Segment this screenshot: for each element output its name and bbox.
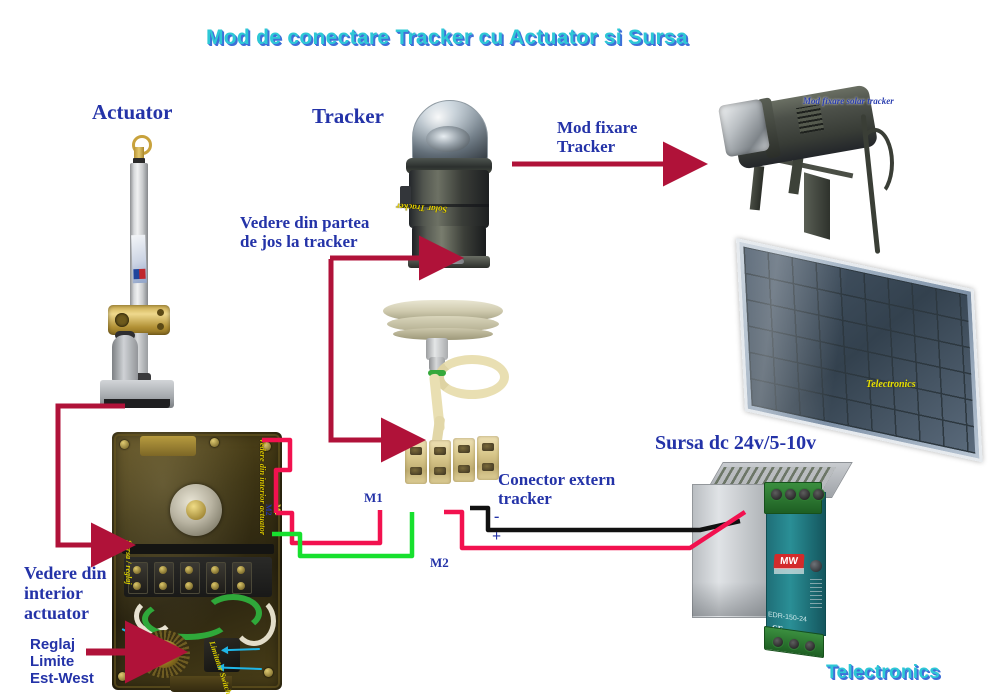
label-vedere-din-partea-de-jos: Vedere din partea de jos la tracker: [240, 213, 369, 251]
housing-screw-top-right: [210, 438, 219, 447]
psu-terminal-3: [798, 488, 811, 501]
terminal-screw-1: [133, 566, 141, 574]
watermark-sursa-reglaj: Sursa / reglaj: [124, 540, 133, 584]
brand-logo: Telectronics: [826, 662, 940, 683]
tracker-mount-plate: [804, 172, 830, 239]
wire-motor-2: [272, 512, 412, 556]
psu-brand-logo: MW: [773, 554, 804, 569]
psu-input-terminal-1: [772, 636, 784, 648]
housing-screw-top-left: [120, 440, 129, 449]
actuator-photo: [92, 135, 178, 410]
mounted-tracker-fins: [796, 104, 824, 134]
label-actuator: Actuator: [92, 101, 172, 125]
tracker-mount-post: [750, 166, 765, 211]
actuator-sticker: [131, 235, 147, 283]
mounted-tracker-lens: [718, 99, 770, 158]
actuator-limit-disc-hub: [186, 500, 206, 520]
interior-label-m2: M2: [263, 504, 272, 516]
tracker-cable-loop: [435, 355, 509, 399]
label-terminal-minus: -: [494, 508, 499, 526]
psu-input-terminal-2: [788, 638, 800, 650]
terminal-screw-7: [159, 582, 167, 590]
tracker-sensor-core: [426, 126, 470, 152]
solar-panel: [736, 238, 983, 462]
terminal-screw-2: [159, 566, 167, 574]
tracker-clamp-bolt: [434, 259, 464, 264]
terminal-screw-8: [185, 582, 193, 590]
terminal-screw-6: [133, 582, 141, 590]
actuator-terminal-bar: [122, 544, 274, 554]
interior-label-m1: M1: [272, 504, 281, 516]
psu-print-block: [810, 578, 822, 608]
psu-terminal-1: [770, 488, 783, 501]
tracker-body: [409, 170, 489, 228]
tracker-bottom-view-photo: [383, 300, 533, 485]
watermark-vedere-interior: Vedere din interior actuator: [258, 438, 268, 535]
psu-input-terminal-3: [804, 640, 816, 652]
wire-motor-1: [276, 510, 380, 543]
psu-left-shading: [692, 582, 766, 616]
terminal-screw-4: [211, 566, 219, 574]
housing-screw-bottom-left: [118, 672, 127, 681]
label-tracker: Tracker: [312, 105, 384, 129]
watermark-panel-brand: Telectronics: [866, 379, 916, 390]
diagram-canvas: Mod de conectare Tracker cu Actuator si …: [0, 0, 990, 700]
terminal-screw-3: [185, 566, 193, 574]
terminal-screw-5: [237, 566, 245, 574]
actuator-interior-photo: [112, 432, 282, 690]
housing-screw-bottom-right: [264, 668, 273, 677]
label-terminal-plus: +: [492, 528, 501, 546]
psu-brand-underline: [774, 568, 804, 574]
actuator-base: [100, 380, 174, 408]
power-supply-photo: MW EDR-150-24 CE: [688, 462, 874, 652]
label-reglaj-limite-est-west: Reglaj Limite Est-West: [30, 637, 94, 687]
actuator-motor: [112, 335, 138, 383]
label-m2: M2: [430, 556, 449, 571]
actuator-top-plate: [140, 436, 196, 456]
label-vedere-din-interior-actuator: Vedere din interior actuator: [24, 563, 107, 623]
label-sursa-dc: Sursa dc 24v/5-10v: [655, 432, 816, 454]
mounted-tracker-cable-loop: [856, 128, 894, 198]
arrow-to-bottom-view: [331, 259, 386, 440]
psu-terminal-4: [812, 488, 825, 501]
terminal-screw-10: [237, 582, 245, 590]
label-mod-fixare-tracker: Mod fixare Tracker: [557, 118, 637, 156]
page-title: Mod de conectare Tracker cu Actuator si …: [206, 26, 688, 50]
label-m1: M1: [364, 491, 383, 506]
psu-terminal-2: [784, 488, 797, 501]
terminal-screw-9: [211, 582, 219, 590]
watermark-mod-fixare-solar-tracker: Mod fixare solar tracker: [803, 96, 894, 106]
solar-panel-mount-photo: [706, 88, 982, 400]
terminal-block-1: [405, 440, 427, 484]
terminal-block-4: [477, 436, 499, 480]
tracker-photo: [398, 100, 498, 270]
terminal-block-3: [453, 438, 475, 482]
terminal-block-2: [429, 440, 451, 484]
solar-panel-glare: [736, 238, 849, 462]
psu-adjust-knob[interactable]: [810, 560, 822, 572]
